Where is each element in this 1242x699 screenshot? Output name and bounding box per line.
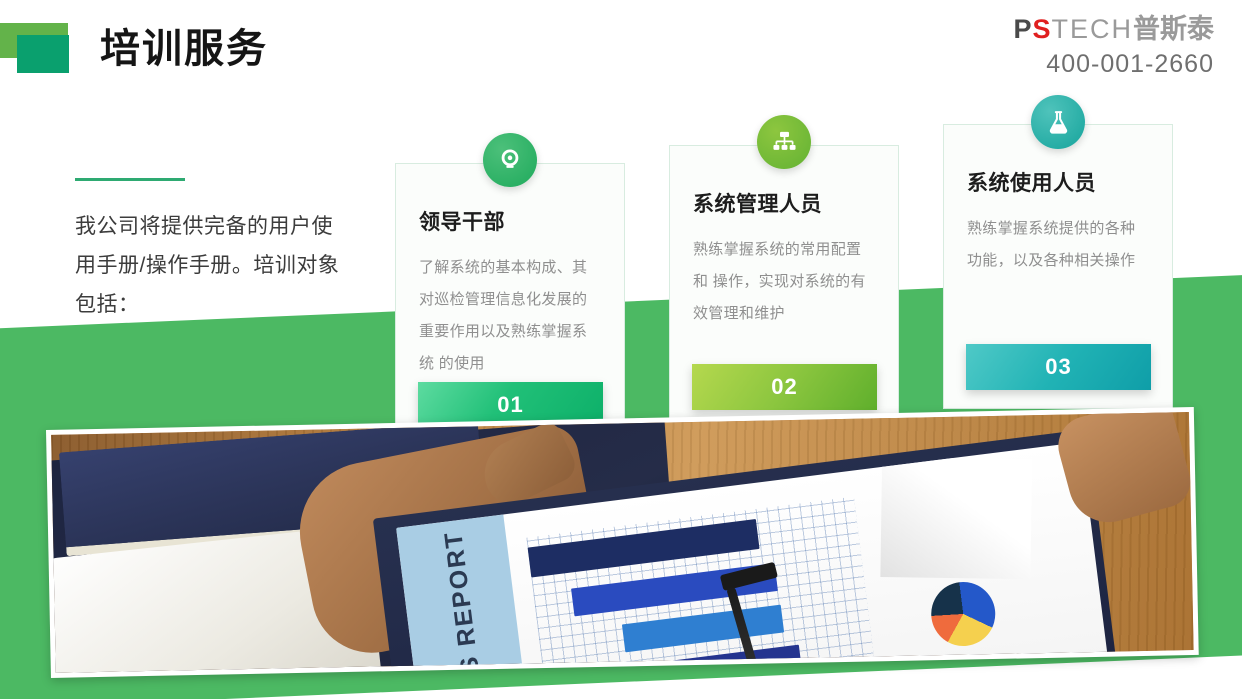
report-title-band: ESS REPORT [396,514,531,672]
brand-word-cn: 普斯泰 [1133,14,1214,44]
brand-word-tech: TECH [1052,14,1134,44]
slide-root: 培训服务 PSTECH普斯泰 400-001-2660 我公司将提供完备的用户使… [0,0,1242,699]
photo-content: ESS REPORT [51,412,1194,673]
logo-square-dark [17,35,69,73]
desk-photo: ESS REPORT [46,407,1199,678]
microphone-icon [483,133,537,187]
card-description: 熟练掌握系统提供的各种功能，以及各种相关操作 [967,213,1149,277]
report-title-text: ESS REPORT [439,529,490,673]
intro-divider [75,178,185,181]
brand-phone: 400-001-2660 [1013,52,1214,77]
intro-text: 我公司将提供完备的用户使用手册/操作手册。培训对象包括： [75,207,345,324]
page-curl [880,457,1032,579]
report-pie-chart [928,578,999,649]
logo-mark-icon [0,23,82,73]
org-chart-icon [757,115,811,169]
brand-letter-s: S [1032,14,1051,44]
brand-name: PSTECH普斯泰 [1013,16,1214,43]
card-description: 了解系统的基本构成、其对巡检管理信息化发展的重要作用以及熟练掌握系统 的使用 [419,252,601,380]
card-badge-03[interactable]: 03 [966,344,1151,390]
card-badge-02[interactable]: 02 [692,364,877,410]
brand-letter-p: P [1013,14,1032,44]
intro-block: 我公司将提供完备的用户使用手册/操作手册。培训对象包括： [75,178,345,324]
card-description: 熟练掌握系统的常用配置和 操作，实现对系统的有效管理和维护 [693,234,875,330]
card-title: 系统管理人员 [693,188,875,218]
page-title: 培训服务 [100,27,268,71]
card-title: 领导干部 [419,206,601,236]
card-title: 系统使用人员 [967,167,1149,197]
flask-icon [1031,95,1085,149]
brand-block: PSTECH普斯泰 400-001-2660 [1013,16,1214,77]
